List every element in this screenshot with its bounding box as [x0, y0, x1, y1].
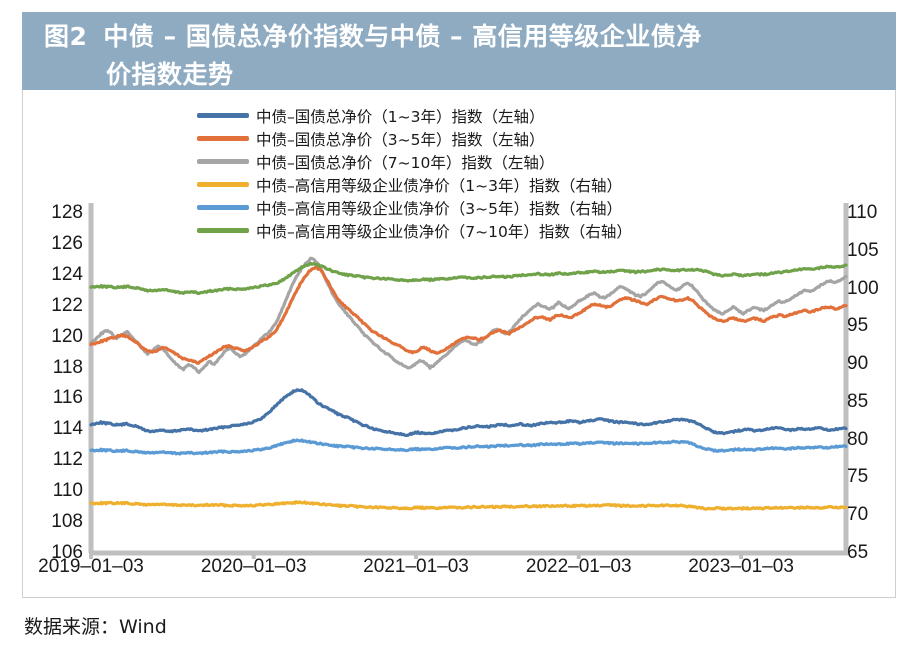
x-axis-tick-label: 2020–01–03	[201, 556, 307, 578]
y-axis-left-tick: 118	[53, 357, 83, 379]
y-axis-left-tick: 114	[53, 418, 83, 440]
y-axis-left-labels: 128126124122120118116114112110108106	[33, 90, 83, 598]
figure-title-banner: 图2中债 – 国债总净价指数与中债 – 高信用等级企业债净价指数走势	[22, 12, 896, 90]
y-axis-right-tick: 90	[847, 353, 868, 375]
x-axis-tick-label: 2023–01–03	[688, 556, 794, 578]
x-axis-tick-label: 2021–01–03	[363, 556, 469, 578]
y-axis-right-tick: 65	[847, 542, 868, 564]
y-axis-left-tick: 128	[51, 202, 83, 224]
chart-series-line	[91, 267, 846, 363]
figure-title-line2: 价指数走势	[106, 60, 234, 89]
x-axis-tick-label: 2019–01–03	[38, 556, 144, 578]
figure-title: 图2中债 – 国债总净价指数与中债 – 高信用等级企业债净价指数走势	[44, 18, 886, 94]
figure-container: 图2中债 – 国债总净价指数与中债 – 高信用等级企业债净价指数走势 中债–国债…	[0, 0, 918, 657]
y-axis-right-tick: 105	[847, 240, 879, 262]
y-axis-left-tick: 124	[51, 264, 83, 286]
y-axis-right-tick: 110	[847, 202, 877, 224]
chart-series-line	[91, 440, 846, 454]
y-axis-left-tick: 122	[51, 295, 83, 317]
chart-series-line	[91, 263, 846, 293]
y-axis-left-tick: 108	[51, 511, 83, 533]
y-axis-right-labels: 11010510095908580757065	[847, 90, 899, 598]
y-axis-right-tick: 95	[847, 315, 868, 337]
figure-title-line1: 中债 – 国债总净价指数与中债 – 高信用等级企业债净	[103, 22, 701, 51]
y-axis-left-tick: 116	[53, 387, 83, 409]
y-axis-right-tick: 75	[847, 466, 868, 488]
source-note: 数据来源：Wind	[24, 612, 167, 639]
chart-series-line	[91, 502, 846, 510]
y-axis-left-tick: 110	[53, 480, 83, 502]
y-axis-right-tick: 70	[847, 504, 868, 526]
y-axis-left-tick: 120	[51, 326, 83, 348]
plot-area: 128126124122120118116114112110108106 110…	[23, 90, 897, 598]
y-axis-right-tick: 85	[847, 391, 868, 413]
chart-svg	[23, 90, 897, 598]
chart-frame: 中债–国债总净价（1~3年）指数（左轴）中债–国债总净价（3~5年）指数（左轴）…	[22, 90, 896, 598]
chart-series-line	[91, 390, 846, 436]
x-axis-tick-label: 2022–01–03	[526, 556, 632, 578]
y-axis-right-tick: 100	[847, 278, 879, 300]
y-axis-right-tick: 80	[847, 429, 868, 451]
y-axis-left-tick: 112	[53, 449, 83, 471]
figure-number: 图2	[44, 22, 87, 51]
y-axis-left-tick: 126	[51, 233, 83, 255]
